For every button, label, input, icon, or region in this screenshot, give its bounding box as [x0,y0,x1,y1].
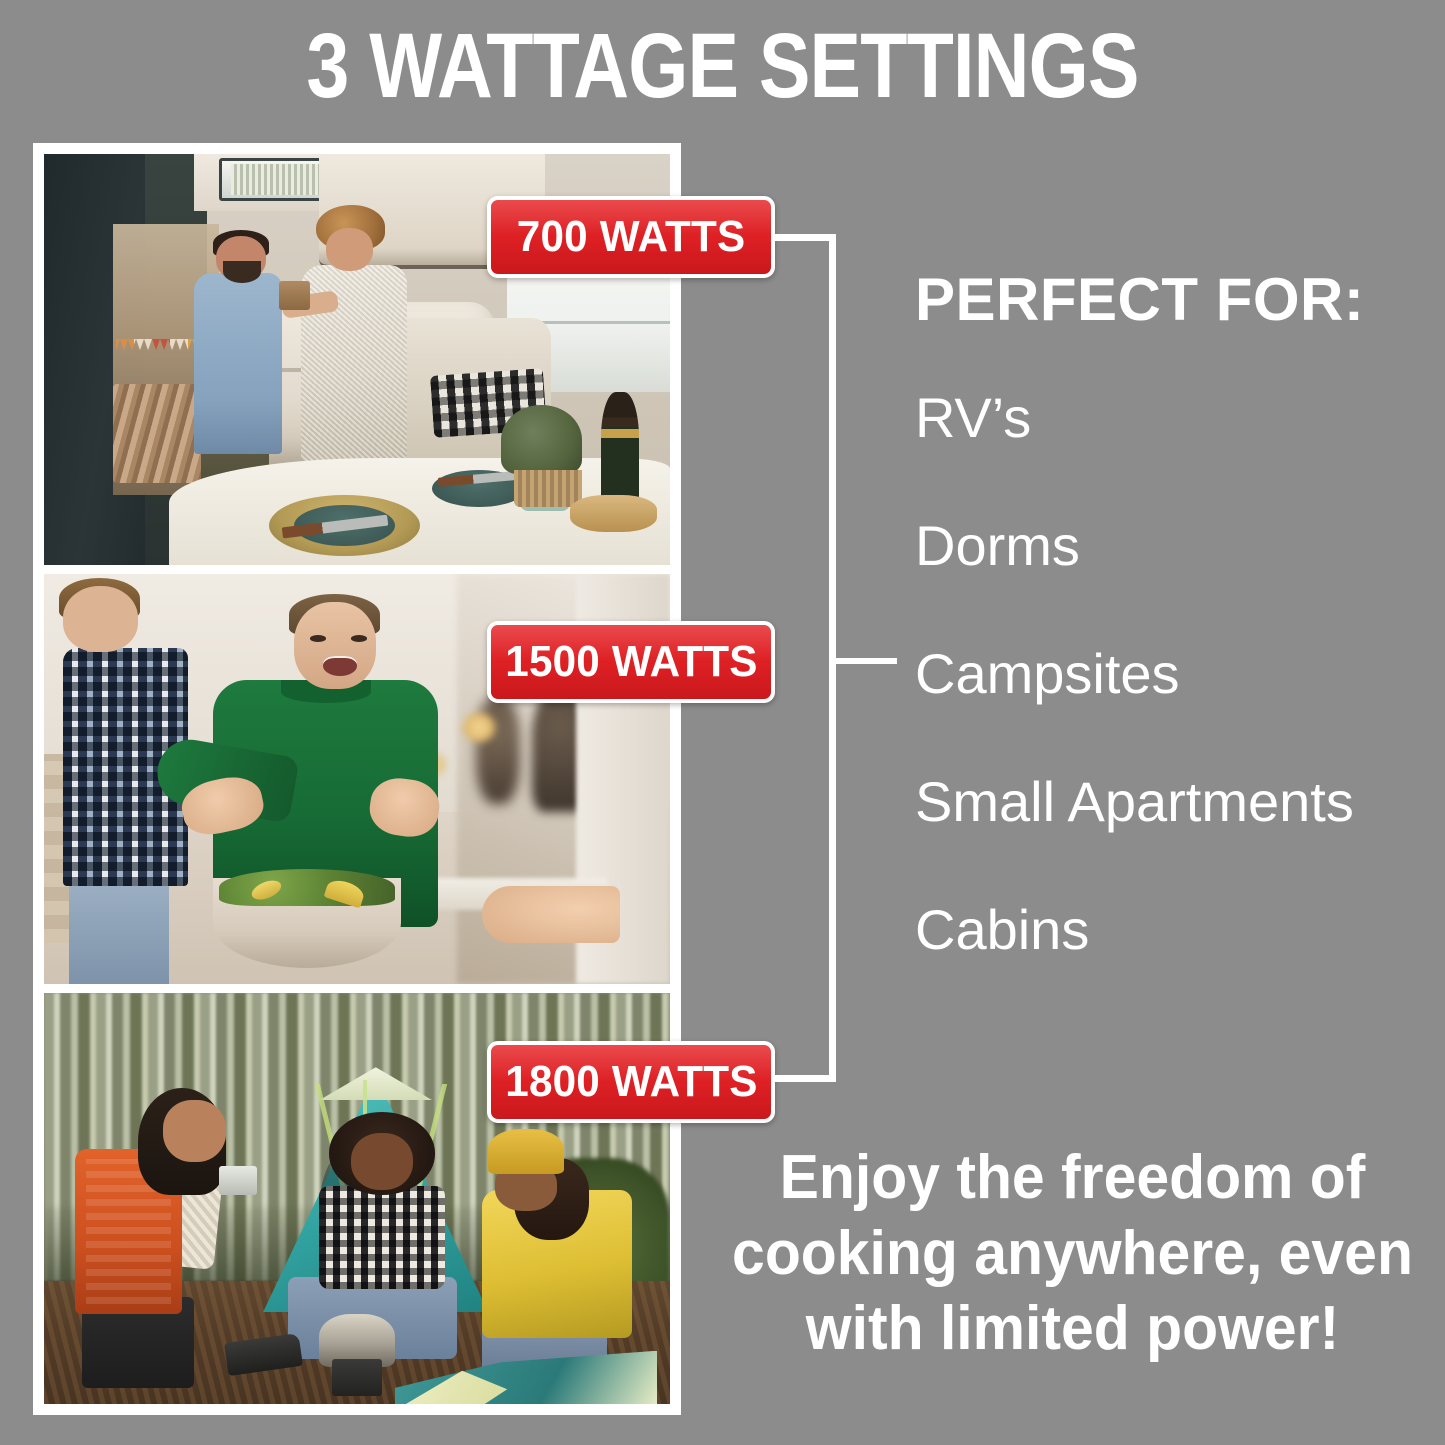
man-shirt [194,273,282,454]
salad-greens [219,869,394,906]
man-jeans [69,878,169,985]
wattage-badge-1500[interactable]: 1500 WATTS [487,621,775,703]
connector-stub-bottom [772,1075,832,1082]
man-head [63,586,138,652]
tagline: Enjoy the freedom of cooking anywhere, e… [719,1140,1427,1367]
woman-eye-left [310,635,326,642]
yellow-beanie-hat [488,1129,563,1174]
camp-mug [219,1166,257,1195]
table-plant [501,405,582,475]
receiving-hand [482,886,620,943]
woman-eye-right [351,635,367,642]
page-title: 3 WATTAGE SETTINGS [116,18,1330,115]
connector-stub-top [772,234,832,241]
photo-frame [33,143,681,1415]
wine-bottle [601,392,639,507]
list-item: RV’s [915,390,1435,446]
wattage-badge-700-label: 700 WATTS [517,212,746,262]
camp-stove-base [332,1359,382,1396]
tagline-line-1: Enjoy the freedom of [719,1140,1427,1216]
woman-orange-vest-head [163,1100,226,1162]
list-item: Small Apartments [915,774,1435,830]
connector-stub-middle [829,658,897,664]
infographic-canvas: 3 WATTAGE SETTINGS [0,0,1445,1445]
woman-head [326,228,373,271]
woman-checked-top [319,1186,444,1289]
table-basket [514,470,583,507]
tagline-line-2: cooking anywhere, even [719,1216,1427,1292]
wattage-badge-1800[interactable]: 1800 WATTS [487,1041,775,1123]
perfect-for-heading: PERFECT FOR: [915,265,1364,334]
wattage-badge-700[interactable]: 700 WATTS [487,196,775,278]
list-item: Cabins [915,902,1435,958]
perfect-for-list: RV’s Dorms Campsites Small Apartments Ca… [915,390,1435,1030]
list-item: Campsites [915,646,1435,702]
tagline-line-3: with limited power! [719,1291,1427,1367]
wattage-badge-1800-label: 1800 WATTS [505,1057,757,1107]
wattage-badge-1500-label: 1500 WATTS [505,637,757,687]
list-item: Dorms [915,518,1435,574]
bread-loaf [570,495,658,532]
woman-center-head [351,1133,414,1190]
coffee-cup [279,281,310,310]
bokeh-light-a [463,713,494,742]
